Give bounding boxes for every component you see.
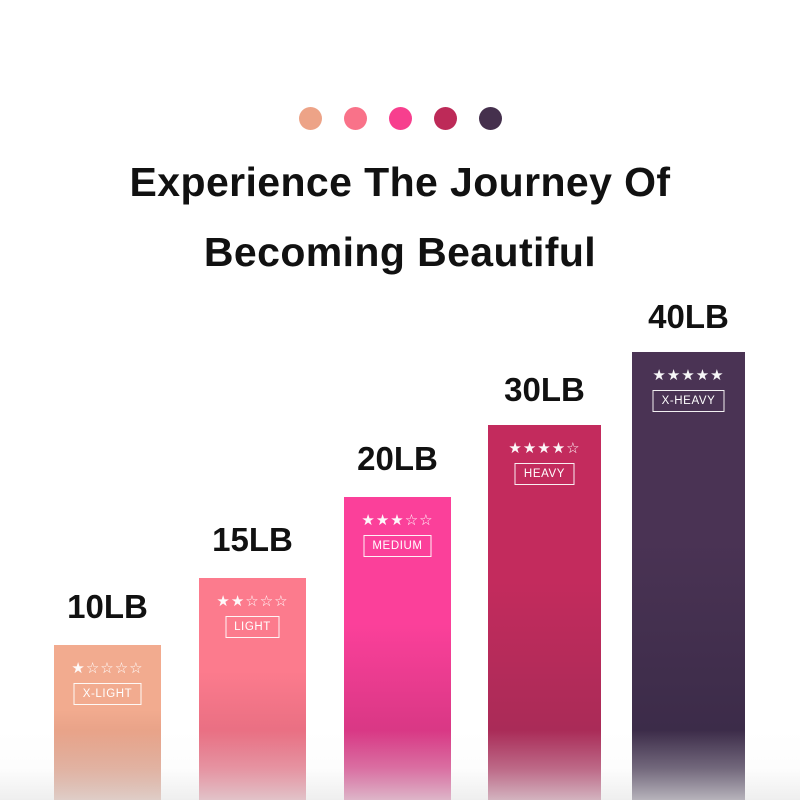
bar-group[interactable]: ★☆☆☆☆X-LIGHT [54, 645, 161, 800]
bar-badge: ★★★★☆HEAVY [488, 440, 601, 485]
bar-badge: ★★☆☆☆LIGHT [199, 593, 306, 638]
bar-badge: ★★★☆☆MEDIUM [344, 512, 451, 557]
tier-label: HEAVY [515, 463, 574, 485]
bar-badge: ★☆☆☆☆X-LIGHT [54, 660, 161, 705]
tier-label: LIGHT [225, 616, 280, 638]
star-rating-icon: ★★☆☆☆ [199, 593, 306, 610]
bar-column[interactable] [632, 352, 745, 800]
bar-group[interactable]: ★★★★★X-HEAVY [632, 352, 745, 800]
star-rating-icon: ★★★★☆ [488, 440, 601, 457]
tier-label: X-LIGHT [74, 683, 142, 705]
bar-badge: ★★★★★X-HEAVY [632, 367, 745, 412]
star-rating-icon: ★★★★★ [632, 367, 745, 384]
bar-group[interactable]: ★★★☆☆MEDIUM [344, 497, 451, 800]
bar-group[interactable]: ★★☆☆☆LIGHT [199, 578, 306, 800]
tier-label: X-HEAVY [653, 390, 725, 412]
star-rating-icon: ★☆☆☆☆ [54, 660, 161, 677]
tier-label: MEDIUM [363, 535, 431, 557]
bar-weight-label: 20LB [357, 441, 438, 477]
bar-group[interactable]: ★★★★☆HEAVY [488, 425, 601, 800]
bar-weight-label: 40LB [648, 299, 729, 335]
infographic-page: Experience The Journey Of Becoming Beaut… [0, 0, 800, 800]
star-rating-icon: ★★★☆☆ [344, 512, 451, 529]
bar-weight-label: 15LB [212, 522, 293, 558]
bar-weight-label: 30LB [504, 372, 585, 408]
bar-weight-label: 10LB [67, 589, 148, 625]
resistance-band-bar-chart: ★☆☆☆☆X-LIGHT10LB★★☆☆☆LIGHT15LB★★★☆☆MEDIU… [0, 0, 800, 800]
